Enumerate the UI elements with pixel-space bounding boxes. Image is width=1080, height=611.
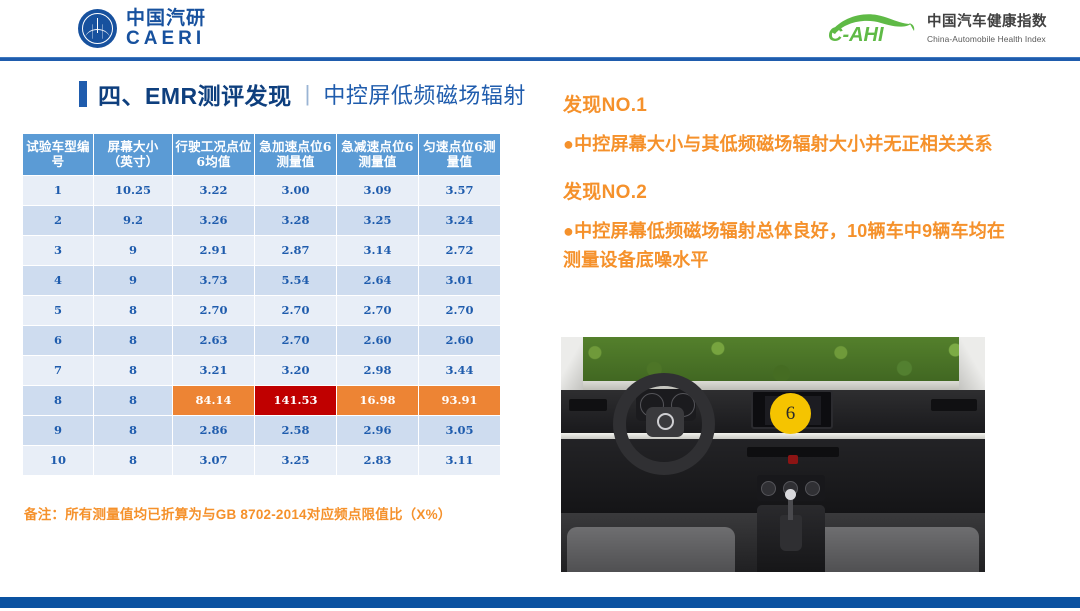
column-header-screen-size: 屏幕大小（英寸）	[94, 134, 172, 175]
cell-vehicle-id: 3	[23, 236, 93, 265]
measurement-point-badge: 6	[770, 393, 811, 434]
photo-shifter-boot	[780, 515, 802, 551]
cell-accel: 3.28	[255, 206, 336, 235]
cell-driving: 2.91	[173, 236, 254, 265]
table-row: 7 8 3.21 3.20 2.98 3.44	[23, 356, 500, 385]
cahi-name-en: China-Automobile Health Index	[927, 34, 1047, 44]
cell-driving: 3.73	[173, 266, 254, 295]
cell-accel: 3.25	[255, 446, 336, 475]
cell-driving: 3.26	[173, 206, 254, 235]
table-row-highlighted: 8 8 84.14 141.53 16.98 93.91	[23, 386, 500, 415]
cell-steady: 2.60	[419, 326, 500, 355]
table-row: 3 9 2.91 2.87 3.14 2.72	[23, 236, 500, 265]
cell-driving-alert: 84.14	[173, 386, 254, 415]
cell-driving: 2.70	[173, 296, 254, 325]
photo-a-pillar-left	[561, 337, 583, 397]
cell-vehicle-id: 9	[23, 416, 93, 445]
header-divider	[0, 57, 1080, 61]
cell-decel: 3.14	[337, 236, 418, 265]
cell-vehicle-id: 5	[23, 296, 93, 325]
cell-steady: 2.70	[419, 296, 500, 325]
cell-decel: 2.98	[337, 356, 418, 385]
photo-seat-left	[567, 527, 735, 572]
cell-screen-size: 9	[94, 266, 172, 295]
title-accent-bar	[79, 81, 87, 107]
cell-driving: 3.22	[173, 176, 254, 205]
table-row: 6 8 2.63 2.70 2.60 2.60	[23, 326, 500, 355]
cell-decel: 2.70	[337, 296, 418, 325]
finding-1-heading: 发现NO.1	[563, 90, 1013, 117]
section-title-sub: 中控屏低频磁场辐射	[323, 78, 526, 110]
cell-screen-size: 8	[94, 386, 172, 415]
table-footnote: 备注：所有测量值均已折算为与GB 8702-2014对应频点限值比（X%）	[24, 503, 451, 523]
finding-block-2: 发现NO.2 ●中控屏幕低频磁场辐射总体良好，10辆车中9辆车均在测量设备底噪水…	[563, 177, 1013, 274]
photo-air-vent-left	[569, 399, 607, 411]
cell-accel: 2.70	[255, 326, 336, 355]
table-row: 10 8 3.07 3.25 2.83 3.11	[23, 446, 500, 475]
cell-decel: 3.25	[337, 206, 418, 235]
column-header-decel: 急减速点位6测量值	[337, 134, 418, 175]
title-separator: |	[305, 81, 311, 107]
cell-steady: 3.24	[419, 206, 500, 235]
cell-decel: 2.96	[337, 416, 418, 445]
photo-shifter-knob	[785, 489, 796, 500]
cell-driving: 3.21	[173, 356, 254, 385]
photo-hazard-button-icon	[788, 455, 798, 464]
caeri-wordmark: 中国汽研 CAERI	[126, 9, 206, 49]
finding-block-1: 发现NO.1 ●中控屏幕大小与其低频磁场辐射大小并无正相关关系	[563, 90, 1013, 158]
cell-screen-size: 8	[94, 296, 172, 325]
cell-vehicle-id: 7	[23, 356, 93, 385]
cell-accel: 3.00	[255, 176, 336, 205]
cell-screen-size: 8	[94, 446, 172, 475]
table-row: 2 9.2 3.26 3.28 3.25 3.24	[23, 206, 500, 235]
cahi-car-icon: C-AHI	[825, 12, 917, 46]
cell-vehicle-id: 4	[23, 266, 93, 295]
column-header-driving: 行驶工况点位6均值	[173, 134, 254, 175]
cell-decel: 3.09	[337, 176, 418, 205]
cell-accel: 3.20	[255, 356, 336, 385]
cahi-wordmark: 中国汽车健康指数 China-Automobile Health Index	[927, 14, 1047, 43]
cell-vehicle-id: 2	[23, 206, 93, 235]
caeri-name-en: CAERI	[126, 29, 206, 49]
page-title: 四、EMR测评发现 | 中控屏低频磁场辐射	[79, 79, 526, 109]
column-header-steady: 匀速点位6测量值	[419, 134, 500, 175]
cell-steady: 3.57	[419, 176, 500, 205]
cell-accel-alert: 141.53	[255, 386, 336, 415]
photo-vw-emblem-icon	[657, 413, 674, 430]
emr-measurement-table: 试验车型编号 屏幕大小（英寸） 行驶工况点位6均值 急加速点位6测量值 急减速点…	[22, 133, 501, 476]
section-title-main: 四、EMR测评发现	[98, 77, 292, 111]
cell-vehicle-id: 1	[23, 176, 93, 205]
svg-text:C-AHI: C-AHI	[828, 24, 884, 46]
table-row: 5 8 2.70 2.70 2.70 2.70	[23, 296, 500, 325]
caeri-logo: 中国汽研 CAERI	[78, 9, 206, 49]
cell-screen-size: 9.2	[94, 206, 172, 235]
cell-driving: 2.63	[173, 326, 254, 355]
findings-panel: 发现NO.1 ●中控屏幕大小与其低频磁场辐射大小并无正相关关系 发现NO.2 ●…	[563, 90, 1013, 293]
slide-header: 中国汽研 CAERI C-AHI 中国汽车健康指数 China-Automobi…	[0, 0, 1080, 57]
photo-climate-knob-right	[805, 481, 820, 496]
cell-steady: 2.72	[419, 236, 500, 265]
cell-screen-size: 10.25	[94, 176, 172, 205]
photo-seat-right	[811, 527, 979, 572]
cell-decel: 2.64	[337, 266, 418, 295]
cell-vehicle-id: 8	[23, 386, 93, 415]
caeri-seal-wing-icon	[85, 29, 110, 39]
cell-accel: 5.54	[255, 266, 336, 295]
table-row: 1 10.25 3.22 3.00 3.09 3.57	[23, 176, 500, 205]
table-row: 4 9 3.73 5.54 2.64 3.01	[23, 266, 500, 295]
cell-steady-alert: 93.91	[419, 386, 500, 415]
cell-screen-size: 9	[94, 236, 172, 265]
table-header-row: 试验车型编号 屏幕大小（英寸） 行驶工况点位6均值 急加速点位6测量值 急减速点…	[23, 134, 500, 175]
column-header-accel: 急加速点位6测量值	[255, 134, 336, 175]
car-interior-photo: 6	[561, 337, 985, 572]
cell-decel-alert: 16.98	[337, 386, 418, 415]
cell-vehicle-id: 10	[23, 446, 93, 475]
caeri-seal-icon	[78, 9, 117, 48]
cell-steady: 3.01	[419, 266, 500, 295]
cell-screen-size: 8	[94, 326, 172, 355]
cell-accel: 2.87	[255, 236, 336, 265]
cell-driving: 2.86	[173, 416, 254, 445]
table-row: 9 8 2.86 2.58 2.96 3.05	[23, 416, 500, 445]
photo-climate-knob-left	[761, 481, 776, 496]
column-header-vehicle-id: 试验车型编号	[23, 134, 93, 175]
cell-screen-size: 8	[94, 356, 172, 385]
footer-bar	[0, 597, 1080, 608]
cell-steady: 3.44	[419, 356, 500, 385]
photo-air-vent-right	[931, 399, 977, 411]
cahi-name-cn: 中国汽车健康指数	[927, 14, 1047, 31]
cell-screen-size: 8	[94, 416, 172, 445]
cahi-logo: C-AHI 中国汽车健康指数 China-Automobile Health I…	[825, 12, 1047, 46]
cell-decel: 2.60	[337, 326, 418, 355]
cell-steady: 3.05	[419, 416, 500, 445]
cell-decel: 2.83	[337, 446, 418, 475]
finding-2-heading: 发现NO.2	[563, 177, 1013, 204]
cell-vehicle-id: 6	[23, 326, 93, 355]
cell-accel: 2.58	[255, 416, 336, 445]
cell-accel: 2.70	[255, 296, 336, 325]
finding-1-body: ●中控屏幕大小与其低频磁场辐射大小并无正相关关系	[563, 130, 1013, 158]
cell-steady: 3.11	[419, 446, 500, 475]
finding-2-body: ●中控屏幕低频磁场辐射总体良好，10辆车中9辆车均在测量设备底噪水平	[563, 217, 1013, 274]
caeri-name-cn: 中国汽研	[126, 9, 206, 29]
cell-driving: 3.07	[173, 446, 254, 475]
